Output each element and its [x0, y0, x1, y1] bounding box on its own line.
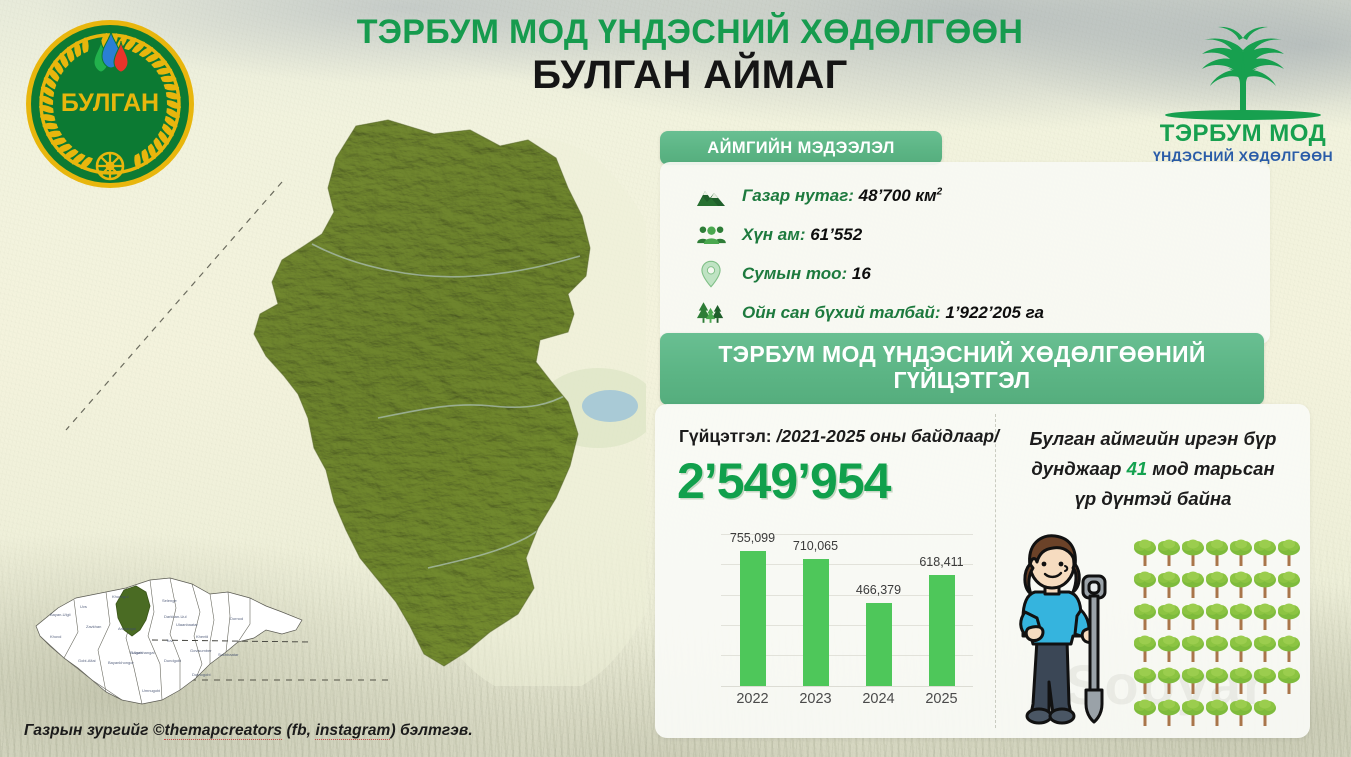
- tree-icon: [1229, 600, 1253, 632]
- credit-handle2: instagram: [315, 722, 390, 740]
- bulgan-emblem: БУЛГАН (function(){ var g = document.get…: [24, 18, 196, 190]
- svg-text:Uvurkhangai: Uvurkhangai: [132, 650, 155, 655]
- mongolia-inset-map: Bayan-UlgiiKhovd UvsZavkhan KhuvsgulArkh…: [14, 572, 312, 720]
- tree-icon: [1157, 536, 1181, 568]
- svg-text:Selenge: Selenge: [162, 598, 177, 603]
- tree-icon: [1181, 536, 1205, 568]
- tree-icon: [1253, 664, 1277, 696]
- people-icon: [688, 224, 734, 245]
- tree-logo-icon: [1148, 24, 1338, 124]
- chart-bar-value: 618,411: [919, 555, 963, 569]
- svg-text:Dornod: Dornod: [230, 616, 243, 621]
- svg-text:Khovd: Khovd: [50, 634, 61, 639]
- exec-total-number: 2’549’954: [677, 452, 890, 510]
- tree-icon: [1181, 696, 1205, 728]
- tree-icon: [1157, 600, 1181, 632]
- tree-icon: [1277, 568, 1301, 600]
- chart-bar: [803, 559, 829, 686]
- svg-text:Khentii: Khentii: [196, 634, 208, 639]
- chart-plot-area: 755,099710,065466,379618,411: [721, 534, 973, 686]
- credit-mid: (fb,: [282, 722, 315, 739]
- svg-text:Dundgobi: Dundgobi: [164, 658, 181, 663]
- tree-icon: [1205, 664, 1229, 696]
- tree-icon: [1277, 600, 1301, 632]
- chart-bar-column: 466,379: [851, 534, 907, 686]
- chart-bars: 755,099710,065466,379618,411: [721, 534, 973, 686]
- tree-icon: [1253, 696, 1277, 728]
- chart-bar-value: 710,065: [793, 539, 838, 553]
- page-title: ТЭРБУМ МОД ҮНДЭСНИЙ ХӨДӨЛГӨӨН БУЛГАН АЙМ…: [330, 14, 1050, 98]
- chart-bar-value: 755,099: [730, 531, 775, 545]
- chart-bar: [929, 575, 955, 686]
- credit-text: Газрын зургийг ©themapcreators (fb, inst…: [24, 722, 473, 740]
- chart-x-tick: 2024: [851, 691, 907, 717]
- quote-line1: Булган аймгийн иргэн бүр: [1030, 428, 1277, 449]
- credit-handle: themapcreators: [164, 722, 282, 740]
- svg-text:Zavkhan: Zavkhan: [86, 624, 101, 629]
- svg-text:Tuv: Tuv: [166, 638, 173, 643]
- tree-icon: [1253, 632, 1277, 664]
- quote-line3: үр дүнтэй байна: [1075, 488, 1232, 509]
- svg-text:Gobi-Altai: Gobi-Altai: [78, 658, 96, 663]
- shovel-icon: [1083, 576, 1105, 722]
- quote-line2a: дунджаар: [1031, 458, 1121, 479]
- info-label-soums: Сумын тоо: 16: [742, 264, 871, 284]
- chart-bar: [740, 551, 766, 686]
- tree-icon: [1253, 536, 1277, 568]
- tree-icon: [1181, 664, 1205, 696]
- tree-icon: [1277, 664, 1301, 696]
- tree-icon: [1253, 568, 1277, 600]
- tree-icon: [1277, 536, 1301, 568]
- lake-shape: [582, 390, 638, 422]
- svg-text:Govisumber: Govisumber: [190, 648, 212, 653]
- chart-bar-column: 710,065: [788, 534, 844, 686]
- tree-icon: [1229, 696, 1253, 728]
- tree-icon: [1181, 632, 1205, 664]
- tree-icon: [1133, 664, 1157, 696]
- chart-bar-column: 755,099: [725, 534, 781, 686]
- tree-icon: [1133, 632, 1157, 664]
- chart-bar: [866, 603, 892, 686]
- chart-x-tick: 2022: [725, 691, 781, 717]
- tree-count-grid: [1133, 536, 1307, 732]
- tree-icon: [1157, 696, 1181, 728]
- exec-period-label: Гүйцэтгэл: /2021-2025 оны байдлаар/: [679, 426, 999, 447]
- chart-x-tick: 2023: [788, 691, 844, 717]
- aimag-info-panel: АЙМГИЙН МЭДЭЭЛЭЛ Газар нутаг: 48’700 км2: [660, 131, 1270, 344]
- info-label-area: Газар нутаг: 48’700 км2: [742, 186, 942, 206]
- svg-text:Sukhbaatar: Sukhbaatar: [218, 652, 239, 657]
- svg-text:Bayan-Ulgii: Bayan-Ulgii: [50, 612, 71, 617]
- title-sub: БУЛГАН АЙМАГ: [330, 52, 1050, 98]
- emblem-label: БУЛГАН: [61, 89, 159, 117]
- title-main: ТЭРБУМ МОД ҮНДЭСНИЙ ХӨДӨЛГӨӨН: [330, 14, 1050, 50]
- chart-bar-column: 618,411: [914, 534, 970, 686]
- tree-icon: [1181, 568, 1205, 600]
- tree-icon: [1229, 568, 1253, 600]
- svg-text:Ulaanbaatar: Ulaanbaatar: [176, 622, 198, 627]
- exec-header-line2: ГҮЙЦЭТГЭЛ: [660, 368, 1264, 394]
- aimag-info-body: Газар нутаг: 48’700 км2 Хүн ам: 61’552: [660, 162, 1270, 344]
- map-pin-icon: [688, 260, 734, 288]
- tree-icon: [1205, 536, 1229, 568]
- panel-divider: [995, 414, 996, 728]
- exec-panel: Sooyar Гүйцэтгэл: /2021-2025 оны байдлаа…: [655, 404, 1310, 738]
- svg-text:Uvs: Uvs: [80, 604, 87, 609]
- svg-text:Dornogobi: Dornogobi: [192, 672, 211, 677]
- tree-icon: [1229, 536, 1253, 568]
- info-row-population: Хүн ам: 61’552: [688, 215, 1270, 254]
- emblem-wheel: [97, 153, 123, 179]
- tree-icon: [1205, 600, 1229, 632]
- tree-icon: [1229, 632, 1253, 664]
- credit-prefix: Газрын зургийг ©: [24, 722, 164, 739]
- svg-text:Khuvsgul: Khuvsgul: [112, 594, 129, 599]
- quote-line2b: мод тарьсан: [1152, 458, 1274, 479]
- tree-icon: [1229, 664, 1253, 696]
- tree-icon: [1133, 536, 1157, 568]
- aimag-info-header: АЙМГИЙН МЭДЭЭЛЭЛ: [660, 131, 942, 165]
- tree-icon: [1205, 632, 1229, 664]
- mountain-icon: [688, 185, 734, 207]
- exec-header-line1: ТЭРБУМ МОД ҮНДЭСНИЙ ХӨДӨЛГӨӨНИЙ: [660, 342, 1264, 368]
- tree-icon: [1253, 600, 1277, 632]
- info-label-population: Хүн ам: 61’552: [742, 225, 862, 245]
- tree-icon: [1205, 696, 1229, 728]
- tree-icon: [1157, 664, 1181, 696]
- info-row-soums: Сумын тоо: 16: [688, 254, 1270, 293]
- forest-icon: [688, 300, 734, 325]
- tree-icon: [1157, 632, 1181, 664]
- chart-x-labels: 2022202320242025: [721, 691, 973, 717]
- chart-axis-line: [721, 686, 973, 687]
- exec-quote: Булган аймгийн иргэн бүр дунджаар 41 мод…: [1007, 424, 1299, 514]
- chart-bar-value: 466,379: [856, 583, 901, 597]
- tree-icon: [1133, 600, 1157, 632]
- person-with-shovel-illustration: [1007, 532, 1117, 728]
- tree-icon: [1277, 632, 1301, 664]
- svg-text:Darkhan-Uul: Darkhan-Uul: [164, 614, 187, 619]
- credit-suffix: ) бэлтгэв.: [390, 722, 472, 739]
- info-row-area: Газар нутаг: 48’700 км2: [688, 176, 1270, 215]
- tree-icon: [1157, 568, 1181, 600]
- info-row-forest: Ойн сан бүхий талбай: 1’922’205 га: [688, 293, 1270, 332]
- tree-icon: [1133, 696, 1157, 728]
- tree-icon: [1205, 568, 1229, 600]
- svg-text:Bayankhongor: Bayankhongor: [108, 660, 134, 665]
- quote-highlight: 41: [1127, 458, 1148, 479]
- tree-icon: [1133, 568, 1157, 600]
- exec-panel-header: ТЭРБУМ МОД ҮНДЭСНИЙ ХӨДӨЛГӨӨНИЙ ГҮЙЦЭТГЭ…: [660, 333, 1264, 405]
- yearly-planting-bar-chart: 755,099710,065466,379618,411 20222023202…: [677, 528, 977, 722]
- svg-text:Arkhangai: Arkhangai: [118, 626, 136, 631]
- svg-text:Umnugobi: Umnugobi: [142, 688, 160, 693]
- chart-x-tick: 2025: [914, 691, 970, 717]
- tree-icon: [1181, 600, 1205, 632]
- info-label-forest: Ойн сан бүхий талбай: 1’922’205 га: [742, 303, 1044, 323]
